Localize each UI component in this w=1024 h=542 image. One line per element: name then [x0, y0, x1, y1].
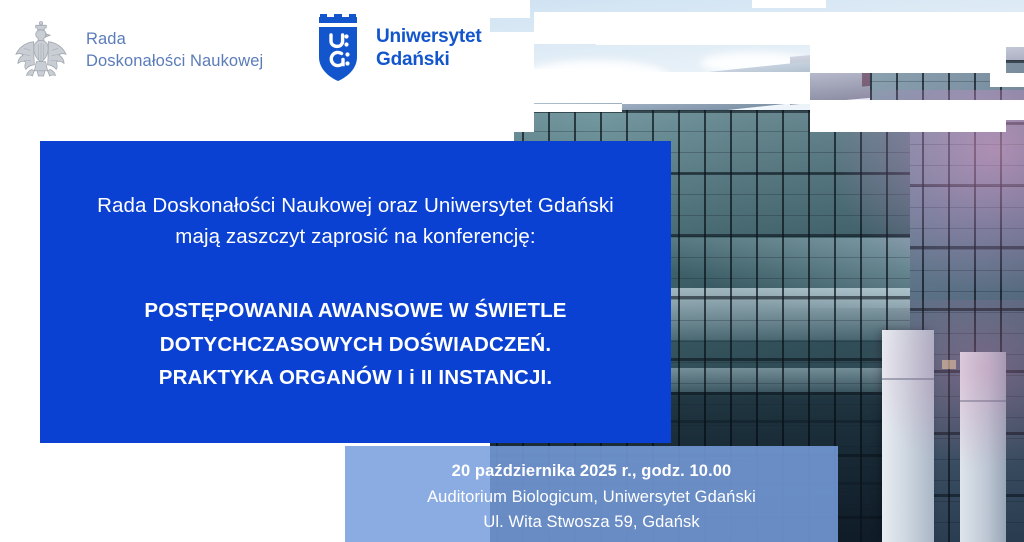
event-details-panel: 20 października 2025 r., godz. 10.00 Aud… [345, 446, 838, 542]
headline-panel: Rada Doskonałości Naukowej oraz Uniwersy… [40, 141, 671, 443]
invitation-intro-line-1: Rada Doskonałości Naukowej oraz Uniwersy… [97, 190, 614, 221]
lens-flare [834, 90, 1024, 290]
ug-logo: Uniwersytet Gdański [312, 14, 482, 82]
ug-shield-icon [312, 14, 364, 82]
event-venue: Auditorium Biologicum, Uniwersytet Gdańs… [427, 485, 756, 510]
rdn-logo-text: Rada Doskonałości Naukowej [86, 29, 263, 73]
conference-poster: Rada Doskonałości Naukowej [0, 0, 1024, 542]
ug-logo-text: Uniwersytet Gdański [376, 25, 482, 71]
rdn-logo-line-1: Rada [86, 29, 263, 51]
poster-header: Rada Doskonałości Naukowej [0, 0, 534, 110]
invitation-intro-line-2: mają zaszczyt zaprosić na konferencję: [97, 221, 614, 252]
conference-title-line-2: DOTYCHCZASOWYCH DOŚWIADCZEŃ. [144, 328, 566, 361]
rdn-logo: Rada Doskonałości Naukowej [8, 18, 263, 84]
event-address: Ul. Wita Stwosza 59, Gdańsk [483, 510, 699, 535]
ug-logo-line-2: Gdański [376, 48, 482, 71]
conference-title-line-3: PRAKTYKA ORGANÓW I i II INSTANCJI. [144, 361, 566, 394]
ug-logo-line-1: Uniwersytet [376, 25, 482, 48]
lens-flare-secondary [864, 300, 1024, 470]
rdn-logo-line-2: Doskonałości Naukowej [86, 51, 263, 73]
invitation-intro: Rada Doskonałości Naukowej oraz Uniwersy… [97, 190, 614, 252]
event-date-time: 20 października 2025 r., godz. 10.00 [452, 459, 732, 485]
conference-title-line-1: POSTĘPOWANIA AWANSOWE W ŚWIETLE [144, 294, 566, 327]
polish-eagle-icon [8, 18, 74, 84]
conference-title: POSTĘPOWANIA AWANSOWE W ŚWIETLE DOTYCHCZ… [144, 294, 566, 394]
